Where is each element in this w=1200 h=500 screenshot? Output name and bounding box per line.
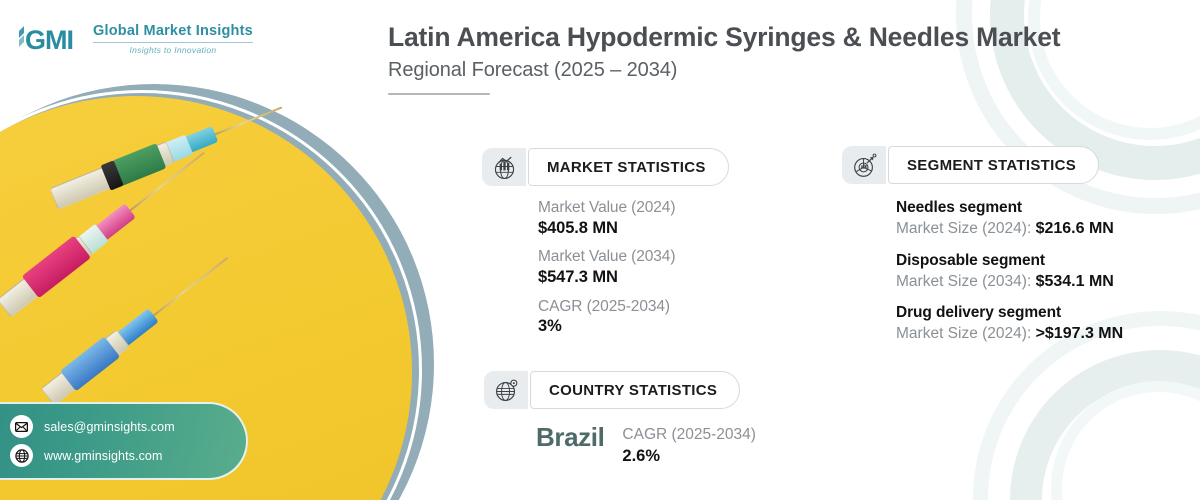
gmi-logo-mark: GMI <box>16 22 84 56</box>
country-metric-value: 2.6% <box>622 445 756 467</box>
pie-chart-target-icon <box>842 146 886 184</box>
country-statistics-pill: COUNTRY STATISTICS <box>530 371 740 409</box>
contact-email-row[interactable]: sales@gminsights.com <box>10 415 246 438</box>
market-statistics-badge: MARKET STATISTICS <box>482 148 729 186</box>
segment-statistics-badge: SEGMENT STATISTICS <box>842 146 1123 184</box>
globe-icon <box>10 444 33 467</box>
stat-value: $405.8 MN <box>538 218 729 239</box>
segment-metric-label: Market Size (2024): <box>896 325 1036 342</box>
svg-text:GMI: GMI <box>25 25 73 55</box>
market-statistics-item: Market Value (2034) $547.3 MN <box>538 247 729 288</box>
gmi-logo-text: Global Market Insights Insights to Innov… <box>93 24 253 54</box>
contact-panel: sales@gminsights.com www.gminsights.com <box>0 402 248 480</box>
title-divider <box>388 93 490 96</box>
stat-label: CAGR (2025-2034) <box>538 297 729 317</box>
market-statistics-card: MARKET STATISTICS Market Value (2024) $4… <box>482 148 729 346</box>
market-statistics-item: CAGR (2025-2034) 3% <box>538 297 729 338</box>
contact-website-text: www.gminsights.com <box>44 449 163 463</box>
infographic-root: sales@gminsights.com www.gminsights.com <box>0 0 1200 500</box>
segment-metric-label: Market Size (2034): <box>896 273 1036 290</box>
stat-label: Market Value (2024) <box>538 198 729 218</box>
brand-name: Global Market Insights <box>93 24 253 39</box>
hypodermic-syringes-photo: sales@gminsights.com www.gminsights.com <box>0 0 440 500</box>
page-title: Latin America Hypodermic Syringes & Need… <box>388 22 1088 53</box>
segment-statistics-item: Drug delivery segment Market Size (2024)… <box>896 303 1123 345</box>
market-statistics-list: Market Value (2024) $405.8 MN Market Val… <box>538 198 729 338</box>
segment-metric: Market Size (2024): >$197.3 MN <box>896 323 1123 344</box>
segment-metric-value: >$197.3 MN <box>1036 325 1124 342</box>
decor-ring-bottom-right-inner <box>1051 381 1200 500</box>
envelope-icon <box>10 415 33 438</box>
segment-statistics-item: Needles segment Market Size (2024): $216… <box>896 198 1123 240</box>
segment-metric: Market Size (2034): $534.1 MN <box>896 271 1123 292</box>
country-statistics-card: COUNTRY STATISTICS Brazil CAGR (2025-203… <box>484 371 756 467</box>
contact-website-row[interactable]: www.gminsights.com <box>10 444 246 467</box>
segment-statistics-pill: SEGMENT STATISTICS <box>888 146 1099 184</box>
segment-name: Disposable segment <box>896 251 1123 271</box>
globe-pin-icon <box>484 371 528 409</box>
segment-metric-value: $534.1 MN <box>1036 273 1114 290</box>
header: Latin America Hypodermic Syringes & Need… <box>388 22 1088 95</box>
decor-ring-bottom-right-main <box>1010 350 1200 500</box>
stat-value: $547.3 MN <box>538 267 729 288</box>
gmi-logo[interactable]: GMI Global Market Insights Insights to I… <box>16 22 253 56</box>
market-statistics-item: Market Value (2024) $405.8 MN <box>538 198 729 239</box>
country-statistics-badge: COUNTRY STATISTICS <box>484 371 756 409</box>
segment-statistics-item: Disposable segment Market Size (2034): $… <box>896 251 1123 293</box>
country-metric: CAGR (2025-2034) 2.6% <box>622 423 756 467</box>
segment-statistics-list: Needles segment Market Size (2024): $216… <box>896 198 1123 345</box>
segment-metric-label: Market Size (2024): <box>896 220 1036 237</box>
segment-statistics-card: SEGMENT STATISTICS Needles segment Marke… <box>842 146 1123 356</box>
page-subtitle: Regional Forecast (2025 – 2034) <box>388 59 1088 82</box>
market-statistics-heading: MARKET STATISTICS <box>547 159 706 176</box>
segment-metric-value: $216.6 MN <box>1036 220 1114 237</box>
country-statistics-heading: COUNTRY STATISTICS <box>549 382 717 399</box>
segment-name: Needles segment <box>896 198 1123 218</box>
contact-email-text: sales@gminsights.com <box>44 420 175 434</box>
segment-metric: Market Size (2024): $216.6 MN <box>896 218 1123 239</box>
globe-chart-icon <box>482 148 526 186</box>
country-statistics-body: Brazil CAGR (2025-2034) 2.6% <box>536 423 756 467</box>
country-metric-label: CAGR (2025-2034) <box>622 425 756 445</box>
stat-value: 3% <box>538 316 729 337</box>
brand-tagline: Insights to Innovation <box>93 46 253 55</box>
country-name: Brazil <box>536 423 604 452</box>
segment-statistics-heading: SEGMENT STATISTICS <box>907 157 1076 174</box>
segment-name: Drug delivery segment <box>896 303 1123 323</box>
stat-label: Market Value (2034) <box>538 247 729 267</box>
market-statistics-pill: MARKET STATISTICS <box>528 148 729 186</box>
logo-divider <box>93 42 253 43</box>
